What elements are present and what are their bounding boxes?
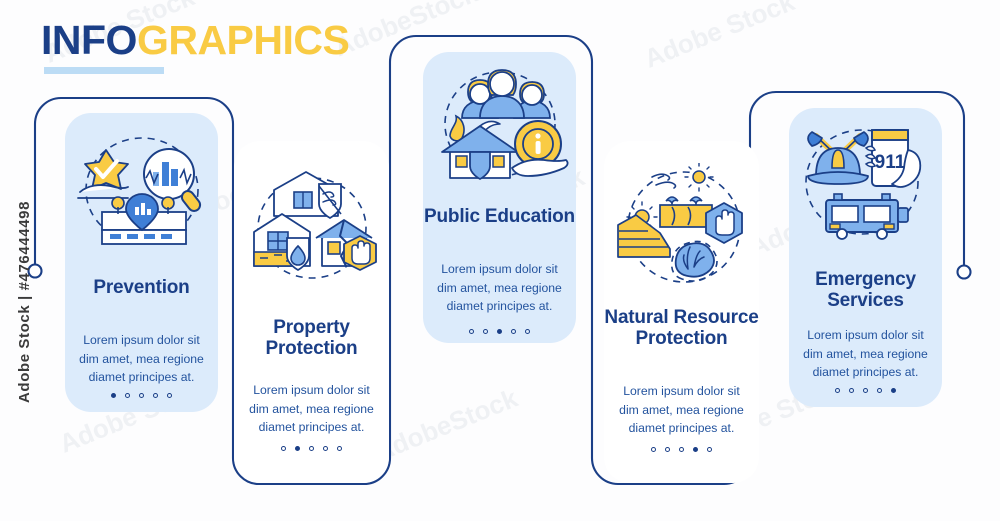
infographic-canvas: Adobe Stock AdobeStock Adobe Stock Adobe… <box>0 0 1000 521</box>
step-dot-2[interactable] <box>295 446 300 451</box>
step-dot-5[interactable] <box>707 447 712 452</box>
step-dots-prevention[interactable] <box>65 393 218 398</box>
step-dot-2[interactable] <box>849 388 854 393</box>
step-dots-public-education[interactable] <box>423 329 576 334</box>
step-dot-5[interactable] <box>525 329 530 334</box>
step-dot-1[interactable] <box>651 447 656 452</box>
card-description-property-protection: Lorem ipsum dolor sit dim amet, mea regi… <box>234 381 389 437</box>
card-title-property-protection: Property Protection <box>234 317 389 360</box>
step-dot-2[interactable] <box>665 447 670 452</box>
property-protection-icon <box>240 170 384 290</box>
step-dot-3[interactable] <box>309 446 314 451</box>
step-dot-4[interactable] <box>153 393 158 398</box>
step-dot-5[interactable] <box>167 393 172 398</box>
step-dot-3[interactable] <box>139 393 144 398</box>
prevention-icon <box>70 128 214 248</box>
step-dot-2[interactable] <box>483 329 488 334</box>
step-dot-1[interactable] <box>469 329 474 334</box>
card-description-natural-resource-protection: Lorem ipsum dolor sit dim amet, mea regi… <box>604 382 759 438</box>
step-dot-2[interactable] <box>125 393 130 398</box>
step-dot-4[interactable] <box>511 329 516 334</box>
card-title-prevention: Prevention <box>65 277 218 298</box>
step-dots-natural-resource-protection[interactable] <box>604 447 759 452</box>
step-dot-4[interactable] <box>877 388 882 393</box>
step-dot-1[interactable] <box>111 393 116 398</box>
card-title-natural-resource-protection: Natural Resource Protection <box>604 307 759 350</box>
step-dots-property-protection[interactable] <box>234 446 389 451</box>
step-dot-4[interactable] <box>693 447 698 452</box>
card-description-prevention: Lorem ipsum dolor sit dim amet, mea regi… <box>65 331 218 387</box>
public-education-icon <box>428 62 572 187</box>
step-dot-1[interactable] <box>835 388 840 393</box>
step-dot-4[interactable] <box>323 446 328 451</box>
step-dot-5[interactable] <box>337 446 342 451</box>
stock-watermark-label: Adobe Stock | #476444498 <box>16 133 33 403</box>
card-description-public-education: Lorem ipsum dolor sit dim amet, mea regi… <box>423 260 576 316</box>
step-dots-emergency-services[interactable] <box>789 388 942 393</box>
card-description-emergency-services: Lorem ipsum dolor sit dim amet, mea regi… <box>789 326 942 382</box>
emergency-services-icon: 911 <box>794 124 938 244</box>
step-dot-3[interactable] <box>497 329 502 334</box>
step-dot-1[interactable] <box>281 446 286 451</box>
natural-resource-protection-icon <box>612 163 756 293</box>
step-dot-5[interactable] <box>891 388 896 393</box>
svg-text:911: 911 <box>875 152 906 173</box>
step-dot-3[interactable] <box>863 388 868 393</box>
card-title-public-education: Public Education <box>423 206 576 227</box>
card-title-emergency-services: Emergency Services <box>789 269 942 312</box>
step-dot-3[interactable] <box>679 447 684 452</box>
